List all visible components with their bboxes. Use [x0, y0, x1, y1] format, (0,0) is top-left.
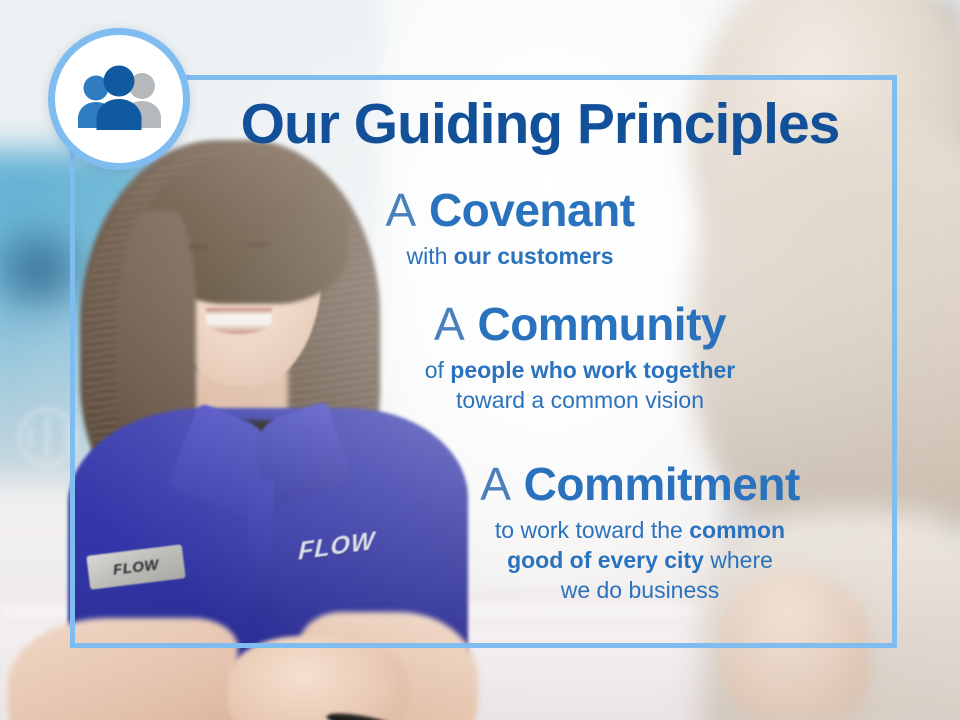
polo-placket: [248, 480, 274, 620]
principle-keyword: Commitment: [524, 458, 800, 510]
page-title: Our Guiding Principles: [215, 95, 865, 154]
principle-subtext-regular: with: [406, 243, 453, 269]
principle-subtext-bold: people who work together: [450, 357, 735, 383]
principle-subtext: with our customers: [270, 241, 750, 271]
people-badge-circle: [48, 28, 190, 170]
principle-subtext-regular: of: [425, 357, 451, 383]
employee-clasped-hands: [228, 636, 408, 720]
principle-covenant: A Covenant with our customers: [270, 186, 750, 271]
principle-heading: A Community: [330, 300, 830, 349]
principle-community: A Community of people who work together …: [330, 300, 830, 415]
employee-arm-left: [8, 618, 238, 720]
principle-article: A: [385, 184, 416, 236]
employee-eyebrow-right: [242, 228, 272, 233]
principle-subtext-line-3: we do business: [400, 575, 880, 605]
guiding-principles-poster: FLOW FLOW Our Guiding Principles: [0, 0, 960, 720]
principle-subtext-regular: toward a common vision: [456, 387, 704, 413]
principle-subtext-regular: we do business: [561, 577, 720, 603]
principle-subtext-regular: where: [704, 547, 773, 573]
principle-article: A: [434, 298, 465, 350]
employee-eyebrow-left: [184, 232, 214, 237]
principle-article: A: [480, 458, 511, 510]
employee-eye-right: [246, 241, 268, 248]
principle-subtext: of people who work together toward a com…: [330, 355, 830, 416]
name-badge-brand-text: FLOW: [112, 556, 160, 578]
principle-subtext-line-1: to work toward the common: [400, 515, 880, 545]
principle-subtext-line-2: toward a common vision: [330, 385, 830, 415]
principle-heading: A Covenant: [270, 186, 750, 235]
people-group-icon: [73, 64, 165, 134]
principle-subtext-bold: common: [689, 517, 785, 543]
principle-subtext-line-1: of people who work together: [330, 355, 830, 385]
employee-smile: [206, 308, 272, 334]
principle-commitment: A Commitment to work toward the common g…: [400, 460, 880, 606]
principle-heading: A Commitment: [400, 460, 880, 509]
principle-subtext-bold: our customers: [454, 243, 614, 269]
employee-eye-left: [188, 244, 210, 251]
principle-subtext-line-2: good of every city where: [400, 545, 880, 575]
principle-keyword: Covenant: [429, 184, 635, 236]
principle-subtext: to work toward the common good of every …: [400, 515, 880, 606]
principle-keyword: Community: [477, 298, 726, 350]
principle-subtext-bold: good of every city: [507, 547, 704, 573]
principle-subtext-regular: to work toward the: [495, 517, 689, 543]
